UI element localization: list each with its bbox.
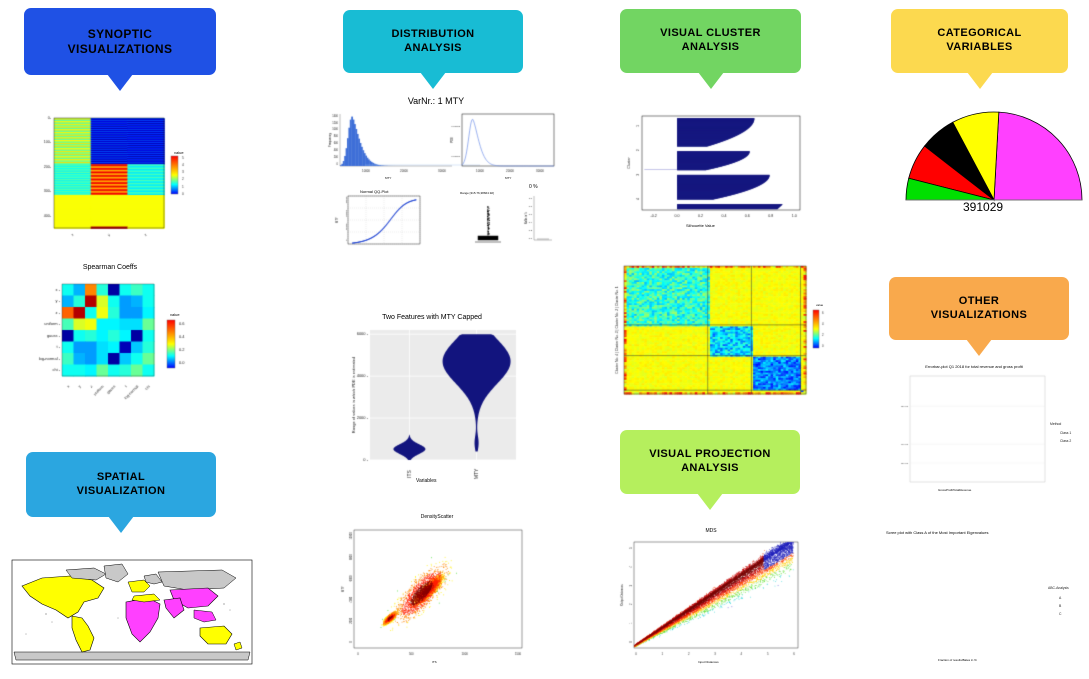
synoptic-heatmap-legend-title: value — [174, 150, 184, 155]
chart-scree: Scree plot with Class A of the Most Impo… — [878, 528, 1086, 673]
spearman-legend-title: value — [170, 312, 180, 317]
errorbar-canvas — [880, 362, 1085, 502]
banner-other-label: OTHER VISUALIZATIONS — [923, 295, 1035, 323]
boxplot-title: Range [315.76,38664.92] — [460, 191, 494, 195]
banner-tail — [108, 516, 134, 533]
chart-mds: MDS Input Distances — [606, 514, 816, 674]
violin-canvas — [334, 312, 529, 492]
banner-tail — [420, 72, 446, 89]
cluster-heatmap-legend-title: value — [816, 303, 823, 307]
banner-tail — [697, 493, 723, 510]
chart-violin: Two Features with MTY Capped Variables — [334, 312, 529, 492]
errorbar-legend-title: Method — [1050, 422, 1061, 426]
density-canvas — [332, 512, 537, 672]
scree-legend-b: B — [1059, 604, 1061, 608]
scree-legend-c: C — [1059, 612, 1061, 616]
banner-spatial-label: SPATIAL VISUALIZATION — [69, 471, 174, 499]
mds-xlabel: Input Distances — [698, 660, 719, 664]
qq-title: Normal QQ-Plot — [360, 189, 388, 194]
banner-distribution[interactable]: DISTRIBUTION ANALYSIS — [343, 10, 523, 73]
scree-legend-title: ABC-Analysis — [1048, 586, 1069, 590]
violin-xlabel: Variables — [416, 478, 436, 484]
banner-other[interactable]: OTHER VISUALIZATIONS — [889, 277, 1069, 340]
synoptic-heatmap-canvas — [30, 108, 210, 248]
banner-projection[interactable]: VISUAL PROJECTION ANALYSIS — [620, 430, 800, 494]
chart-density-scatter: DensityScatter ITS — [332, 512, 537, 672]
chart-varnr-group: VarNr.: 1 MTY MTY MTY Normal QQ-Plot Ran… — [312, 96, 560, 246]
pie-total-label: 391029 — [963, 200, 1003, 214]
banner-spatial[interactable]: SPATIAL VISUALIZATION — [26, 452, 216, 517]
spearman-canvas — [30, 262, 215, 422]
chart-spearman-coeffs: Spearman Coeffs value — [30, 262, 215, 422]
poster-canvas: SYNOPTIC VISUALIZATIONS DISTRIBUTION ANA… — [0, 0, 1089, 679]
chart-cluster-heatmap: value — [608, 258, 828, 408]
mds-canvas — [606, 514, 816, 674]
banner-tail — [967, 72, 993, 89]
density-xlabel: ITS — [432, 660, 437, 664]
scree-legend-a: A — [1059, 596, 1061, 600]
cluster-heatmap-canvas — [608, 258, 828, 408]
banner-categorical-label: CATEGORICAL VARIABLES — [929, 27, 1029, 55]
banner-tail — [698, 72, 724, 89]
silhouette-canvas — [614, 104, 814, 234]
varnr-canvas — [312, 96, 560, 246]
banner-synoptic-label: SYNOPTIC VISUALIZATIONS — [60, 27, 181, 57]
banner-tail — [966, 339, 992, 356]
pdf-xlabel: MTY — [505, 176, 511, 180]
errorbar-legend-class1: Class 1 — [1060, 431, 1071, 435]
banner-projection-label: VISUAL PROJECTION ANALYSIS — [641, 448, 779, 476]
chart-silhouette: Silhouette Value — [614, 104, 814, 234]
banner-cluster-label: VISUAL CLUSTER ANALYSIS — [652, 27, 769, 55]
chart-synoptic-heatmap: value — [30, 108, 210, 248]
errorbar-xlabel: GrossProfitTotalRevenue — [938, 488, 971, 492]
chart-errorbar: Errorbar-plot Q1 2018 for total revenue … — [880, 362, 1085, 502]
scree-canvas — [878, 528, 1086, 673]
banner-synoptic[interactable]: SYNOPTIC VISUALIZATIONS — [24, 8, 216, 75]
histogram-xlabel: MTY — [385, 176, 391, 180]
banner-distribution-label: DISTRIBUTION ANALYSIS — [383, 28, 482, 56]
banner-tail — [107, 74, 133, 91]
banner-categorical[interactable]: CATEGORICAL VARIABLES — [891, 9, 1068, 73]
errorbar-legend-class2: Class 2 — [1060, 439, 1071, 443]
banner-cluster[interactable]: VISUAL CLUSTER ANALYSIS — [620, 9, 801, 73]
nan-title: 0 % — [529, 184, 538, 190]
silhouette-xlabel: Silhouette Value — [686, 223, 715, 228]
chart-categorical-pie: 391029 — [876, 100, 1088, 220]
scree-xlabel: Fraction of results/Bales in % — [938, 658, 977, 662]
chart-world-map — [8, 548, 256, 673]
world-map-svg — [8, 548, 256, 673]
